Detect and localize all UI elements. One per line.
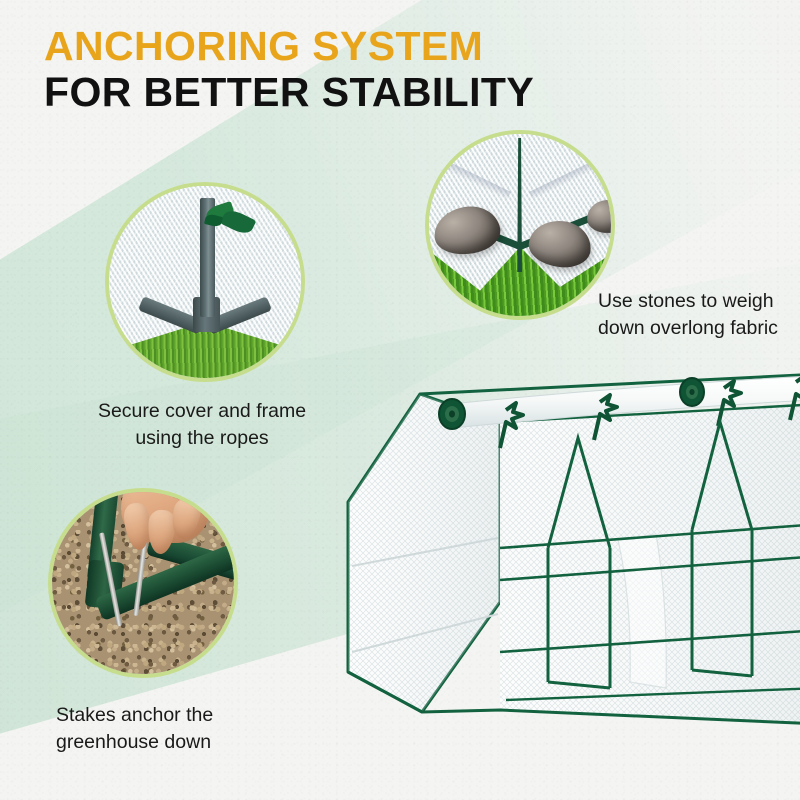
inset-photo-ground-stakes — [48, 488, 238, 678]
headline: ANCHORING SYSTEM FOR BETTER STABILITY — [44, 24, 764, 116]
caption-stakes-anchor: Stakes anchor the greenhouse down — [56, 702, 306, 756]
gable-end-panel — [348, 394, 500, 712]
inset-photo-stones-on-fabric — [425, 130, 615, 320]
inset-photo-content-ropes — [109, 186, 301, 378]
product-image-greenhouse — [300, 352, 800, 772]
headline-line-1: ANCHORING SYSTEM — [44, 24, 764, 70]
headline-line-2: FOR BETTER STABILITY — [44, 70, 764, 116]
roll-end-cap-left — [439, 399, 465, 429]
inset-photo-content-stones — [429, 134, 611, 316]
roll-end-cap-right — [680, 378, 704, 406]
inset-photo-content-stakes — [52, 492, 234, 674]
inset-photo-corner-joint-ribbon — [105, 182, 305, 382]
greenhouse-illustration — [300, 352, 800, 772]
product-infographic: ANCHORING SYSTEM FOR BETTER STABILITY — [0, 0, 800, 800]
green-ribbon-tie — [205, 205, 263, 238]
caption-use-stones: Use stones to weigh down overlong fabric — [598, 288, 800, 342]
